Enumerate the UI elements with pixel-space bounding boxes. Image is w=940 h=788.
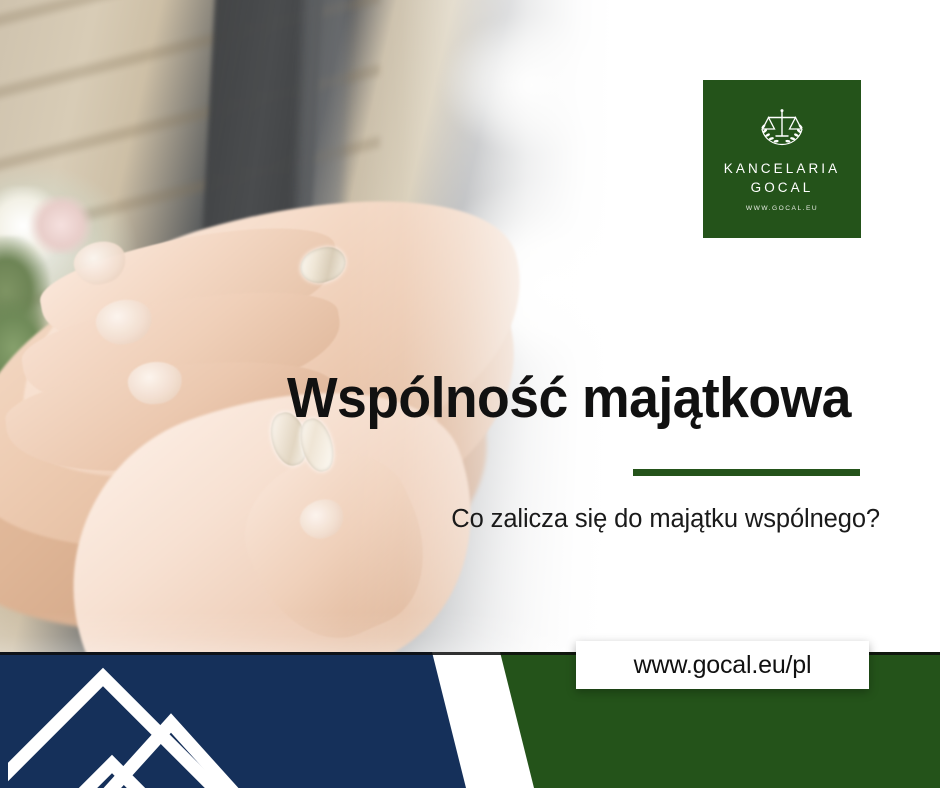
scales-of-justice-laurel-icon	[751, 106, 813, 150]
page-title: Wspólność majątkowa	[287, 369, 851, 428]
logo-name-line-1: KANCELARIA	[724, 159, 841, 178]
logo-website: WWW.GOCAL.EU	[746, 205, 818, 212]
social-post-canvas: KANCELARIA GOCAL WWW.GOCAL.EU Wspólność …	[0, 0, 940, 788]
photo-shirt-cuff-upper	[430, 10, 630, 160]
website-url-badge[interactable]: www.gocal.eu/pl	[576, 641, 869, 689]
website-url-label: www.gocal.eu/pl	[634, 651, 812, 680]
brand-logo[interactable]: KANCELARIA GOCAL WWW.GOCAL.EU	[703, 80, 861, 238]
mountain-peaks-icon	[8, 666, 338, 788]
photo-dark-post-secondary	[296, 0, 351, 226]
title-underline-rule	[633, 469, 860, 476]
wedding-hands-photo	[0, 0, 660, 652]
logo-name-line-2: GOCAL	[751, 178, 814, 197]
page-subtitle: Co zalicza się do majątku wspólnego?	[380, 505, 880, 534]
